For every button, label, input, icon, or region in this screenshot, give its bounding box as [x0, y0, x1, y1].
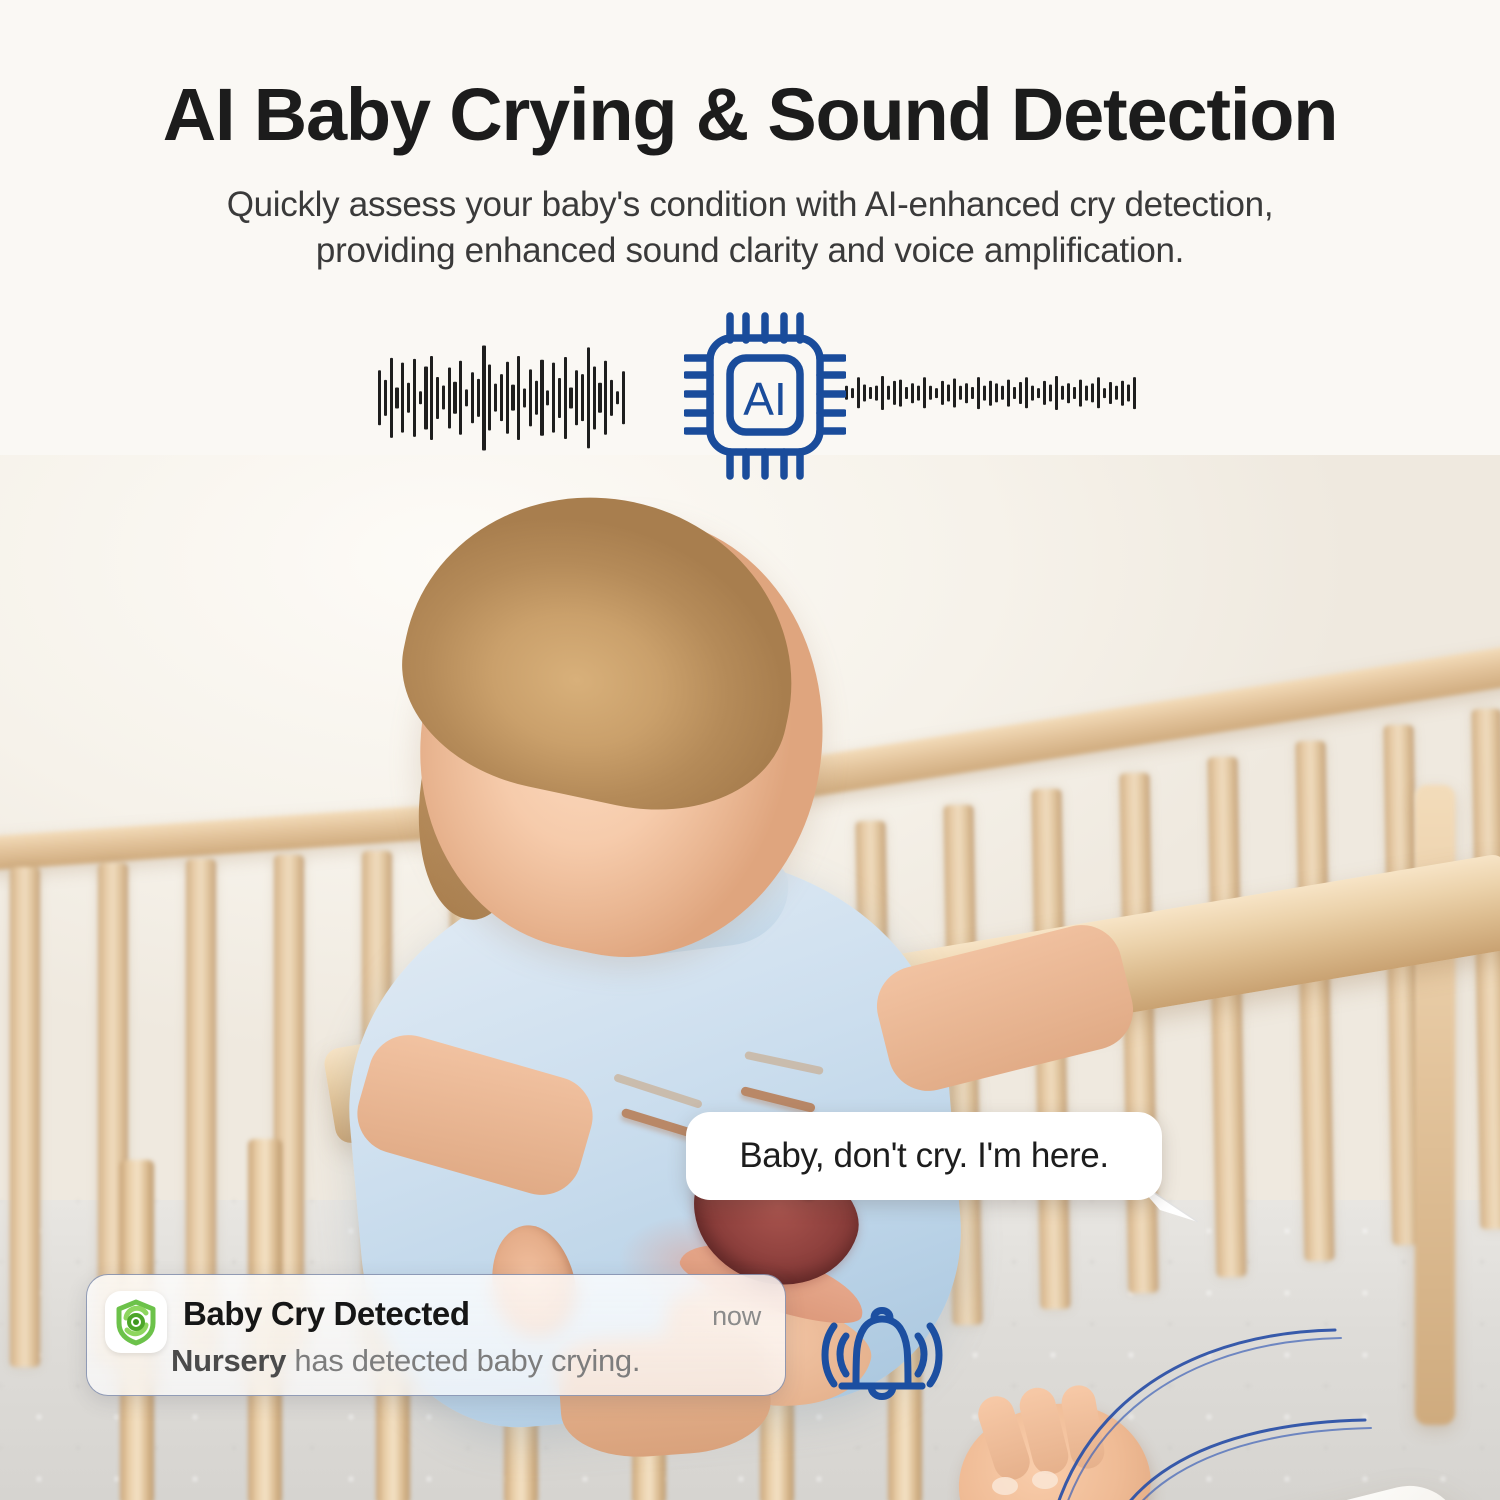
waveform-bar [899, 379, 902, 406]
waveform-bar [941, 381, 944, 405]
waveform-bar [395, 387, 398, 408]
waveform-bar [1001, 386, 1004, 400]
waveform-bar [424, 366, 427, 429]
waveform-bar [419, 391, 422, 404]
waveform-bar [604, 361, 607, 435]
waveform-bar [401, 363, 404, 432]
audio-waveform-right [845, 372, 1135, 414]
notification-body: Nursery has detected baby crying. [171, 1343, 640, 1379]
sound-wave-arcs [1035, 1300, 1455, 1500]
waveform-bar [1073, 387, 1076, 399]
waveform-bar [1115, 386, 1118, 400]
waveform-bar [552, 363, 555, 432]
waveform-bar [511, 385, 514, 410]
waveform-bar [494, 384, 497, 411]
waveform-bar [430, 356, 433, 440]
audio-waveform-left [378, 345, 628, 450]
waveform-bar [436, 377, 439, 419]
waveform-bar [923, 378, 926, 409]
subtitle-line-2: providing enhanced sound clarity and voi… [0, 228, 1500, 274]
waveform-bar [477, 379, 480, 417]
waveform-bar [482, 345, 485, 450]
waveform-bar [610, 380, 613, 416]
waveform-bar [622, 371, 625, 424]
waveform-bar [1079, 379, 1082, 406]
waveform-bar [581, 374, 584, 420]
waveform-bar [1007, 379, 1010, 406]
waveform-bar [1103, 388, 1106, 398]
waveform-bar [453, 382, 456, 414]
waveform-bar [459, 361, 462, 435]
notification-title: Baby Cry Detected [183, 1295, 470, 1333]
waveform-bar [905, 387, 908, 399]
notification-body-rest: has detected baby crying. [286, 1343, 640, 1378]
waveform-bar [995, 384, 998, 403]
waveform-bar [977, 377, 980, 409]
waveform-bar [535, 381, 538, 415]
waveform-bar [1019, 382, 1022, 404]
waveform-bar [564, 357, 567, 439]
page-subtitle: Quickly assess your baby's condition wit… [0, 182, 1500, 274]
product-feature-image: Baby, don't cry. I'm here. Baby Cry Dete… [0, 0, 1500, 1500]
waveform-bar [448, 367, 451, 428]
waveform-bar [384, 380, 387, 416]
waveform-bar [413, 359, 416, 437]
waveform-bar [1133, 377, 1136, 409]
subtitle-line-1: Quickly assess your baby's condition wit… [0, 182, 1500, 228]
notification-timestamp: now [712, 1301, 761, 1332]
waveform-bar [935, 388, 938, 398]
ai-chip-icon: AI [684, 312, 846, 480]
waveform-bar [869, 387, 872, 399]
waveform-bar [593, 366, 596, 429]
waveform-bar [911, 383, 914, 403]
waveform-bar [517, 356, 520, 440]
waveform-bar [1097, 378, 1100, 409]
waveform-bar [523, 388, 526, 407]
waveform-bar [887, 386, 890, 400]
shield-camera-icon-glyph [112, 1298, 160, 1346]
notification-source: Nursery [171, 1343, 286, 1378]
baby-fingernail [992, 1477, 1018, 1495]
waveform-bar [971, 387, 974, 399]
waveform-bar [558, 378, 561, 418]
page-title: AI Baby Crying & Sound Detection [0, 0, 1500, 152]
waveform-bar [893, 381, 896, 405]
waveform-bar [1121, 380, 1124, 406]
waveform-bar [390, 358, 393, 438]
waveform-bar [442, 386, 445, 409]
waveform-bar [407, 383, 410, 412]
waveform-bar [1043, 381, 1046, 405]
waveform-bar [863, 385, 866, 402]
speech-bubble: Baby, don't cry. I'm here. [686, 1112, 1162, 1200]
waveform-bar [506, 362, 509, 433]
push-notification-card[interactable]: Baby Cry Detected now Nursery has detect… [86, 1274, 786, 1396]
speech-bubble-text: Baby, don't cry. I'm here. [739, 1136, 1108, 1176]
waveform-bar [529, 369, 532, 426]
waveform-bar [989, 380, 992, 406]
waveform-bar [983, 385, 986, 400]
waveform-bar [953, 379, 956, 408]
waveform-bar [917, 385, 920, 400]
waveform-bar [540, 360, 543, 436]
waveform-bar [1067, 383, 1070, 403]
waveform-bar [378, 370, 381, 425]
waveform-bar [1031, 385, 1034, 400]
waveform-bar [546, 390, 549, 405]
waveform-bar [1085, 385, 1088, 400]
waveform-bar [575, 370, 578, 425]
waveform-bar [959, 386, 962, 400]
waveform-bar [488, 365, 491, 430]
waveform-bar [851, 388, 854, 398]
waveform-bar [471, 372, 474, 422]
waveform-bar [1061, 386, 1064, 400]
waveform-bar [598, 383, 601, 412]
waveform-bar [1127, 385, 1130, 402]
waveform-bar [881, 376, 884, 410]
waveform-bar [947, 385, 950, 402]
ai-chip-label: AI [743, 373, 786, 425]
waveform-bar [1091, 384, 1094, 403]
waveform-bar [875, 385, 878, 400]
waveform-bar [1025, 378, 1028, 409]
waveform-bar [616, 391, 619, 404]
waveform-bar [1049, 385, 1052, 402]
waveform-bar [587, 347, 590, 448]
waveform-bar [965, 383, 968, 403]
waveform-bar [500, 374, 503, 420]
header-block: AI Baby Crying & Sound Detection Quickly… [0, 0, 1500, 300]
ringing-bell-icon [812, 1288, 952, 1420]
waveform-bar [1109, 382, 1112, 404]
waveform-bar [1013, 387, 1016, 399]
waveform-bar [929, 386, 932, 400]
waveform-bar [569, 387, 572, 408]
waveform-bar [857, 378, 860, 409]
waveform-bar [465, 389, 468, 406]
waveform-bar [1037, 388, 1040, 398]
shield-camera-app-icon [105, 1291, 167, 1353]
waveform-bar [1055, 376, 1058, 410]
